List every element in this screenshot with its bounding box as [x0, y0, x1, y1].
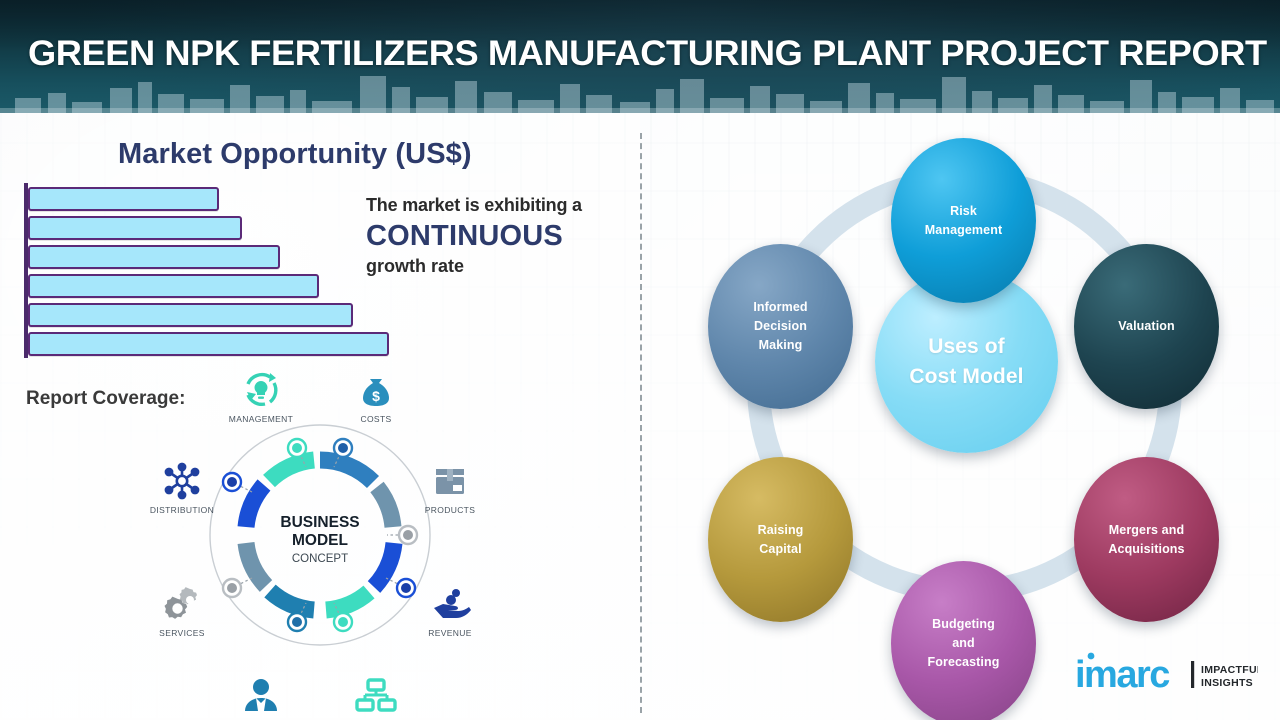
market-opportunity-title: Market Opportunity (US$): [118, 138, 472, 171]
node-informed-decision-making[interactable]: Informed Decision Making: [708, 244, 853, 409]
node-line: Decision: [753, 317, 807, 336]
bm-item-competencies[interactable]: COMPETENCIES: [328, 675, 424, 720]
bar-row: [28, 274, 319, 298]
bm-item-management[interactable]: MANAGEMENT: [213, 369, 309, 424]
node-mergers-acquisitions[interactable]: Mergers and Acquisitions: [1074, 457, 1219, 622]
bm-label: SERVICES: [134, 628, 230, 638]
bm-label: MANAGEMENT: [213, 414, 309, 424]
node-line: Making: [753, 336, 807, 355]
node-line: Risk: [925, 202, 1002, 221]
node-line: Valuation: [1118, 317, 1174, 336]
page-title: GREEN NPK FERTILIZERS MANUFACTURING PLAN…: [28, 30, 1280, 78]
business-model-wheel: BUSINESS MODEL CONCEPT: [140, 375, 500, 695]
business-model-diagram: BUSINESS MODEL CONCEPT MANAGEMENT: [140, 375, 500, 695]
bm-item-revenue[interactable]: REVENUE: [402, 583, 498, 638]
center-node-line-2: Cost Model: [909, 362, 1023, 392]
person-user-icon: [213, 675, 309, 717]
recycle-lightbulb-icon: [213, 369, 309, 411]
market-callout: The market is exhibiting a CONTINUOUS gr…: [366, 195, 638, 277]
bm-item-customers[interactable]: CUSTOMERS: [213, 675, 309, 720]
node-valuation[interactable]: Valuation: [1074, 244, 1219, 409]
market-opportunity-bar-chart: [24, 183, 424, 358]
bar-row: [28, 332, 389, 356]
node-line: Management: [925, 221, 1002, 240]
node-line: Acquisitions: [1108, 540, 1184, 559]
node-line: Capital: [758, 540, 804, 559]
bm-item-distribution[interactable]: DISTRIBUTION: [134, 460, 230, 515]
bm-center-line2: MODEL: [292, 532, 348, 549]
page-header: GREEN NPK FERTILIZERS MANUFACTURING PLAN…: [0, 0, 1280, 113]
bm-label: PRODUCTS: [402, 505, 498, 515]
slide-body: Market Opportunity (US$) The market is e…: [0, 113, 1280, 720]
node-line: Mergers and: [1108, 521, 1184, 540]
center-node-line-1: Uses of: [909, 332, 1023, 362]
callout-emphasis: CONTINUOUS: [366, 220, 638, 253]
node-line: Raising: [758, 521, 804, 540]
imarc-logo[interactable]: imarc IMPACTFUL INSIGHTS: [1073, 647, 1258, 695]
callout-line-1: The market is exhibiting a: [366, 195, 638, 216]
callout-line-3: growth rate: [366, 256, 638, 277]
bm-item-costs[interactable]: $ COSTS: [328, 369, 424, 424]
logo-divider-bar: [1191, 661, 1194, 688]
bm-center-line1: BUSINESS: [280, 514, 359, 531]
bm-label: COSTS: [328, 414, 424, 424]
gears-icon: [134, 583, 230, 625]
bm-label: REVENUE: [402, 628, 498, 638]
bm-label: DISTRIBUTION: [134, 505, 230, 515]
bm-item-products[interactable]: PRODUCTS: [402, 460, 498, 515]
node-raising-capital[interactable]: Raising Capital: [708, 457, 853, 622]
node-line: Informed: [753, 298, 807, 317]
uses-of-cost-model-diagram: Uses of Cost Model Risk Management Valua…: [640, 113, 1280, 720]
org-chart-icon: [328, 675, 424, 717]
node-budgeting-forecasting[interactable]: Budgeting and Forecasting: [891, 561, 1036, 720]
node-risk-management[interactable]: Risk Management: [891, 138, 1036, 303]
logo-tagline-line-2: INSIGHTS: [1201, 677, 1253, 689]
bar-row: [28, 216, 242, 240]
money-bag-icon: $: [328, 369, 424, 411]
bm-center-line3: CONCEPT: [292, 553, 348, 565]
logo-wordmark: imarc: [1075, 654, 1170, 695]
network-nodes-icon: [134, 460, 230, 502]
bar-row: [28, 303, 353, 327]
package-box-icon: [402, 460, 498, 502]
hand-coins-icon: [402, 583, 498, 625]
node-line: Forecasting: [928, 653, 1000, 672]
node-line: and: [928, 634, 1000, 653]
logo-tagline-line-1: IMPACTFUL: [1201, 664, 1258, 676]
bm-item-services[interactable]: SERVICES: [134, 583, 230, 638]
node-line: Budgeting: [928, 615, 1000, 634]
svg-text:$: $: [372, 388, 380, 404]
bar-row: [28, 245, 280, 269]
bar-row: [28, 187, 219, 211]
